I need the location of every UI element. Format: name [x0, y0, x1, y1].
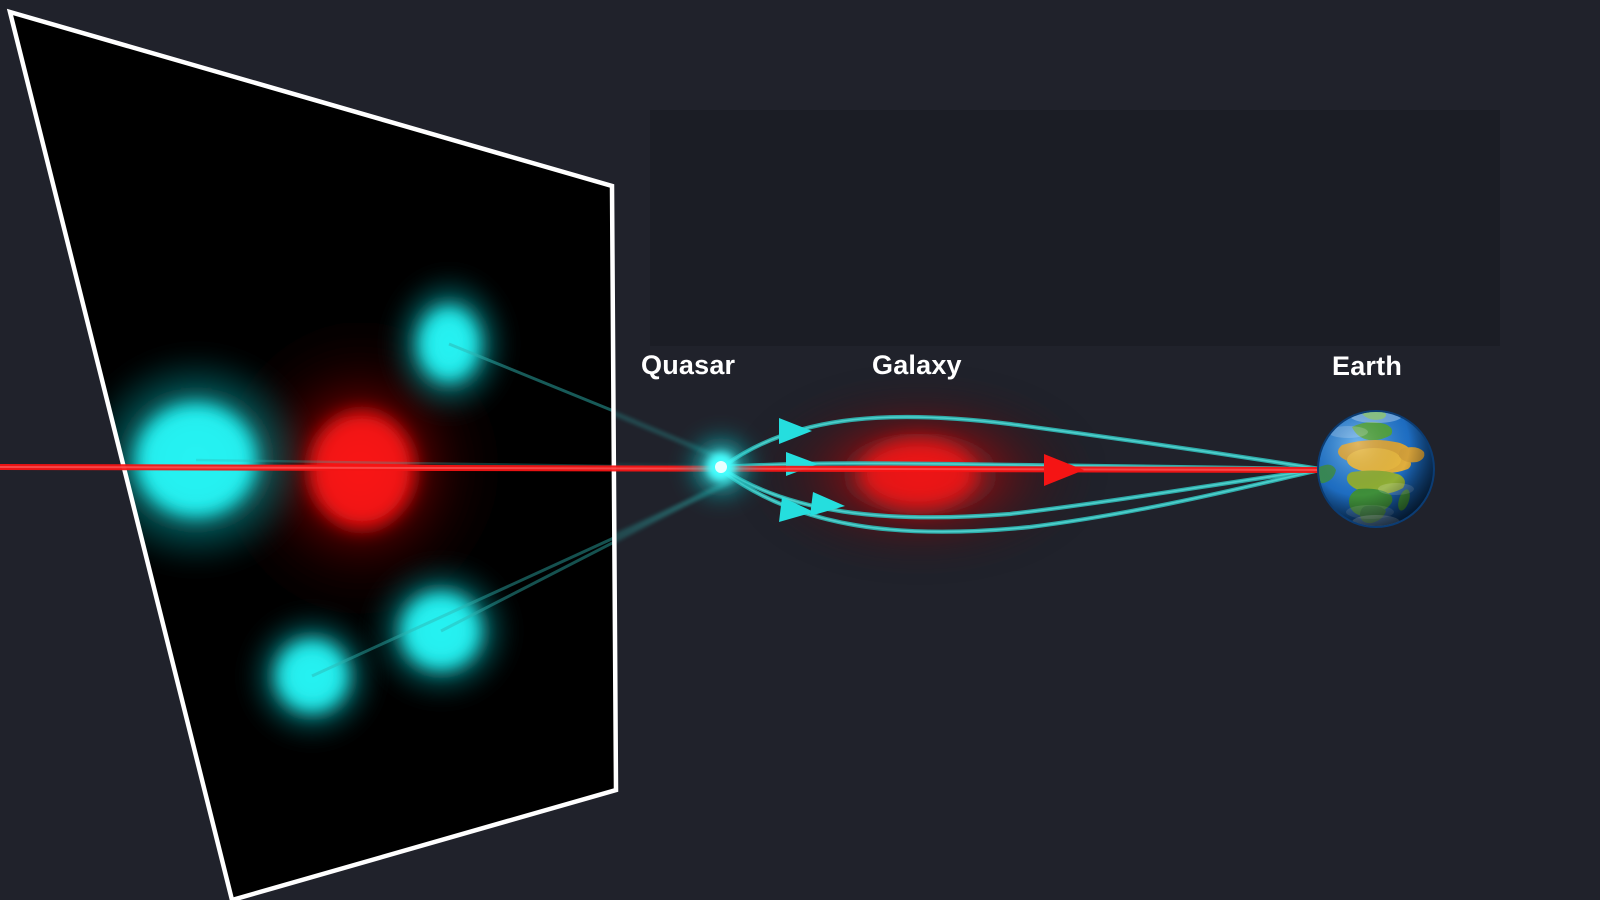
figure-canvas: Quasar Galaxy Earth — [0, 0, 1600, 900]
label-galaxy: Galaxy — [872, 350, 962, 381]
image-plane — [10, 12, 616, 900]
label-earth: Earth — [1332, 351, 1402, 382]
label-quasar: Quasar — [641, 350, 735, 381]
earth-globe — [1314, 409, 1435, 529]
quasar-source — [679, 425, 763, 509]
backdrop-panel — [650, 110, 1500, 346]
lensing-diagram — [0, 0, 1600, 900]
